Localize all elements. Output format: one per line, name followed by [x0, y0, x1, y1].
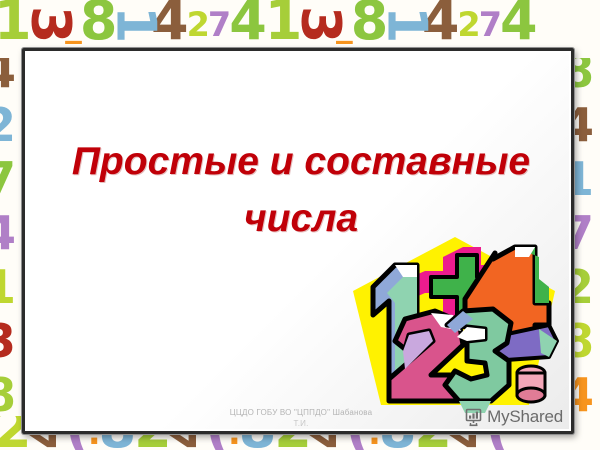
border-number-strip-left: 8 4 2 7 4 1 3 8 4 [0, 0, 14, 450]
period-cylinder-glyph [517, 366, 545, 402]
border-number-strip-right: 2 8 4 1 7 2 8 4 1 [574, 0, 592, 450]
border-number-strip-top: 13_81427413_814274 [0, 0, 536, 48]
presentation-chart-icon [464, 408, 483, 427]
slide-frame: Простые и составные числа [22, 48, 574, 434]
title-line-1: Простые и составные [72, 140, 530, 183]
myshared-watermark[interactable]: MyShared [464, 407, 563, 427]
myshared-label: MyShared [487, 407, 563, 427]
decorative-border-right: 2 8 4 1 7 2 8 4 1 [574, 0, 600, 450]
credit-line-1: ЦЦДО ГОБУ ВО "ЦППДО" Шабанова [230, 408, 373, 417]
presentation-slide: 8 4 2 7 4 1 3 8 4 2 8 4 1 7 2 8 4 1 13_8… [0, 0, 600, 450]
numbers-clipart-illustration [343, 229, 567, 425]
